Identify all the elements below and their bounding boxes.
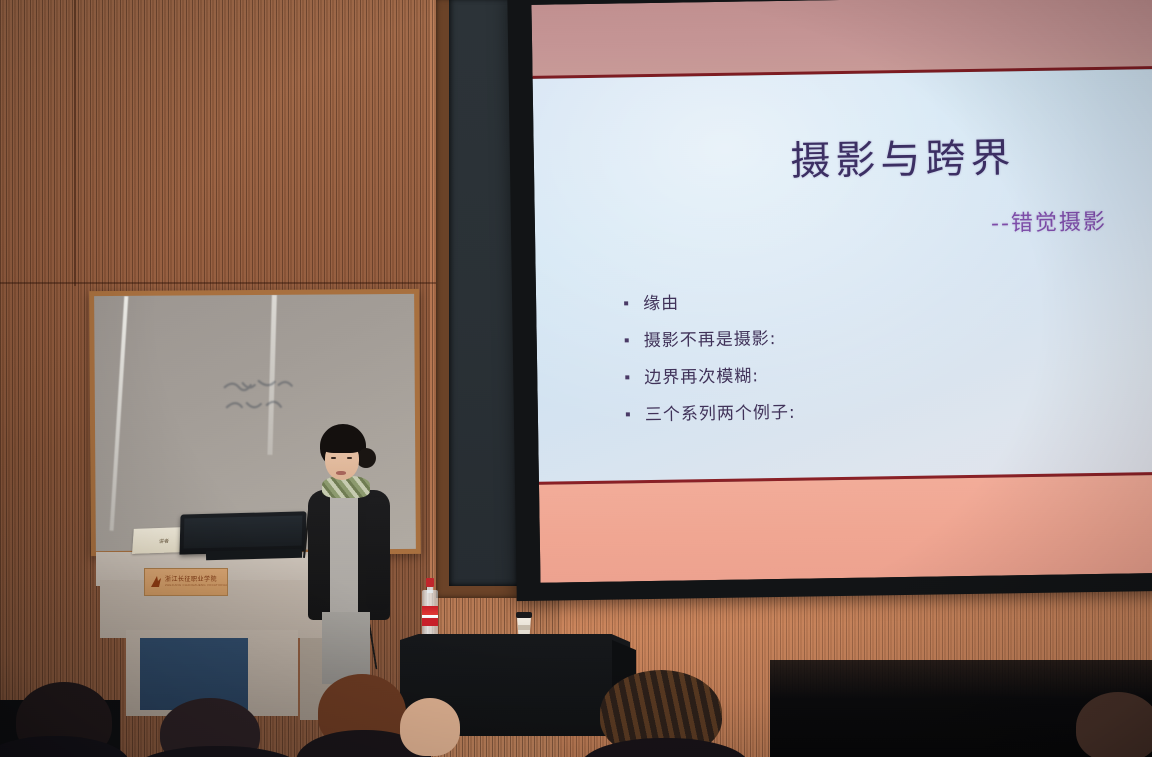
wall-seam-vertical: [74, 0, 76, 286]
presenter-eye: [347, 457, 352, 459]
list-item: 摄影不再是摄影:: [625, 324, 795, 352]
water-bottle: [422, 578, 438, 638]
cup-sleeve: [518, 625, 530, 630]
screen-surface: 摄影与跨界 --错觉摄影 缘由 摄影不再是摄影: 边界再次模糊:: [531, 0, 1152, 583]
slide-bottom-band: [539, 475, 1152, 583]
bullet-text: 三个系列两个例子:: [645, 398, 796, 425]
audience-shoulder: [580, 738, 750, 757]
presenter-mouth: [336, 471, 346, 475]
bottle-neck: [427, 586, 433, 593]
list-item: 边界再次模糊:: [625, 361, 795, 389]
audience-shoulder: [128, 746, 308, 757]
lecture-hall-photo: 摄影与跨界 --错觉摄影 缘由 摄影不再是摄影: 边界再次模糊:: [0, 0, 1152, 757]
audience-head: [400, 698, 460, 756]
slide-top-band: [531, 0, 1152, 77]
presenter-inner-top: [330, 494, 358, 616]
bullet-text: 缘由: [643, 289, 679, 315]
bottle-label: [422, 606, 438, 626]
bullet-dot-icon: [624, 301, 628, 305]
list-item: 缘由: [624, 287, 794, 315]
bullet-dot-icon: [626, 412, 630, 416]
audience-shoulder: [0, 736, 130, 757]
plaque-english-name: ZHEJIANG CHANGZHENG VOCATIONAL COLLEGE: [165, 583, 228, 587]
presenter-fringe: [321, 433, 363, 453]
cup-lid: [516, 612, 532, 618]
list-item: 三个系列两个例子:: [626, 398, 796, 426]
bullet-text: 摄影不再是摄影:: [644, 324, 777, 351]
audience-head: [1076, 692, 1152, 757]
slide-title: 摄影与跨界: [533, 124, 1122, 191]
slide-content: 摄影与跨界 --错觉摄影 缘由 摄影不再是摄影: 边界再次模糊:: [533, 69, 1152, 483]
bullet-dot-icon: [625, 338, 629, 342]
institution-logo-icon: [150, 575, 162, 588]
projection-screen[interactable]: 摄影与跨界 --错觉摄影 缘由 摄影不再是摄影: 边界再次模糊:: [507, 0, 1152, 601]
wall-seam-horizontal: [0, 282, 440, 284]
slide-bullet-list: 缘由 摄影不再是摄影: 边界再次模糊: 三个系列两个例子:: [624, 287, 796, 438]
whiteboard-handwriting-icon: [221, 373, 313, 422]
lectern-plaque: 浙江长征职业学院 ZHEJIANG CHANGZHENG VOCATIONAL …: [144, 568, 228, 596]
bullet-text: 边界再次模糊:: [644, 361, 759, 388]
name-card-text: 讲者: [159, 538, 170, 545]
whiteboard-glare: [110, 296, 129, 531]
bottle-cap: [426, 578, 434, 587]
bullet-dot-icon: [625, 375, 629, 379]
name-card: 讲者: [132, 527, 184, 554]
audience: [0, 660, 1152, 757]
presenter-arm: [366, 498, 390, 610]
monitor-screen: [184, 515, 303, 548]
presenter-eye: [331, 457, 336, 459]
plaque-chinese-name: 浙江长征职业学院: [165, 574, 217, 583]
slide-subtitle: --错觉摄影: [991, 204, 1107, 238]
presenter: [300, 424, 400, 684]
